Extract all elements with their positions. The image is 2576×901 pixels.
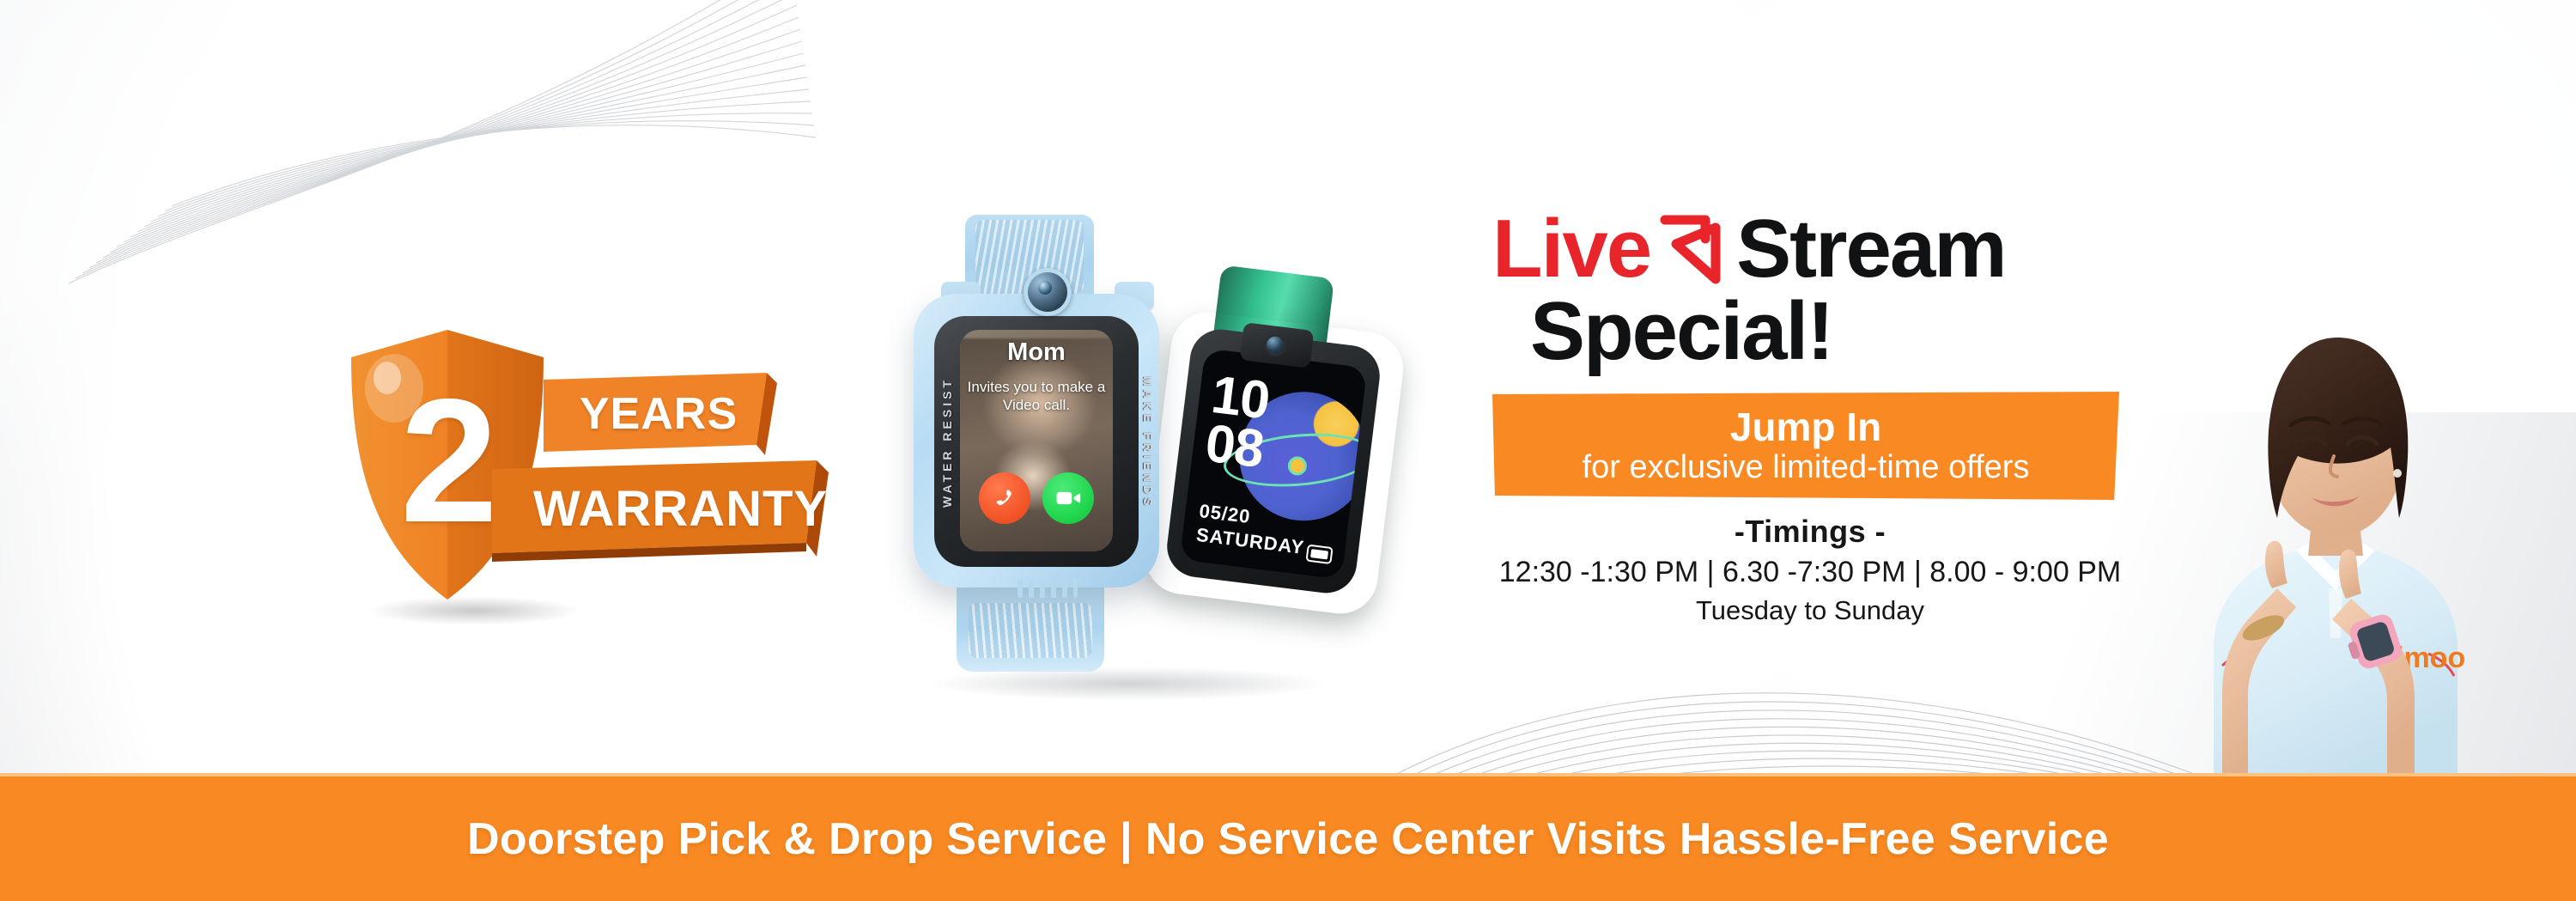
blue-watch-screen: Mom Invites you to make a Video call. (960, 330, 1113, 551)
presenter-earring (2393, 469, 2402, 478)
promotional-banner: 2 YEARS WARRANTY (0, 0, 2576, 901)
phone-hangup-icon[interactable] (979, 472, 1030, 524)
incoming-call-video-preview (960, 338, 1113, 551)
promo-title-special: Special! (1492, 290, 2128, 373)
timings-days: Tuesday to Sunday (1492, 595, 2128, 626)
green-watch-time: 10 08 (1203, 370, 1272, 474)
promo-title-stream: Stream (1736, 208, 2006, 290)
green-watch-screen: 10 08 05/20 SATURDAY (1180, 348, 1368, 579)
service-promise-bar: Doorstep Pick & Drop Service | No Servic… (0, 773, 2576, 901)
blue-watch-side-text-left: WATER RESIST (940, 344, 954, 541)
timings-heading: -Timings - (1492, 514, 2128, 550)
warranty-label: WARRANTY (492, 460, 829, 562)
promo-title-row: Live Stream (1492, 203, 2128, 295)
camera-lens-icon (1024, 268, 1072, 316)
smartwatch-product-group: 10 08 05/20 SATURDAY WATER RESIST MAKE F… (902, 215, 1434, 696)
video-camera-icon[interactable] (1042, 472, 1094, 524)
blue-watch-band-bottom-texture (969, 603, 1092, 658)
blue-watch-side-text-right: MAKE FRIENDS (1141, 344, 1155, 541)
years-label: YEARS (544, 373, 777, 459)
live-stream-video-icon (1659, 212, 1731, 286)
caller-name: Mom (960, 338, 1113, 367)
presenter-photo: imoo (2112, 288, 2559, 773)
call-message: Invites you to make a Video call. (965, 378, 1108, 415)
timings-slots: 12:30 -1:30 PM | 6.30 -7:30 PM | 8.00 - … (1492, 556, 2128, 589)
green-watch-minutes: 08 (1203, 418, 1266, 474)
jump-in-subtitle: for exclusive limited-time offers (1583, 449, 2030, 486)
jump-in-banner[interactable]: Jump In for exclusive limited-time offer… (1492, 392, 2119, 500)
promo-title-live: Live (1492, 208, 1650, 290)
warranty-badge: 2 YEARS WARRANTY (348, 325, 914, 617)
years-ribbon: YEARS (544, 373, 777, 459)
warranty-ribbon: WARRANTY (492, 460, 829, 562)
battery-icon (1305, 545, 1333, 565)
blue-smartwatch: WATER RESIST MAKE FRIENDS Mom Invites yo… (902, 215, 1194, 670)
blue-watch-speaker-grill (1018, 579, 1078, 598)
service-promise-text: Doorstep Pick & Drop Service | No Servic… (467, 813, 2109, 865)
livestream-promo-block: Live Stream Special! Jump In for exclusi… (1492, 203, 2128, 626)
jump-in-title: Jump In (1730, 406, 1881, 448)
green-watch-day: SATURDAY (1195, 524, 1306, 559)
